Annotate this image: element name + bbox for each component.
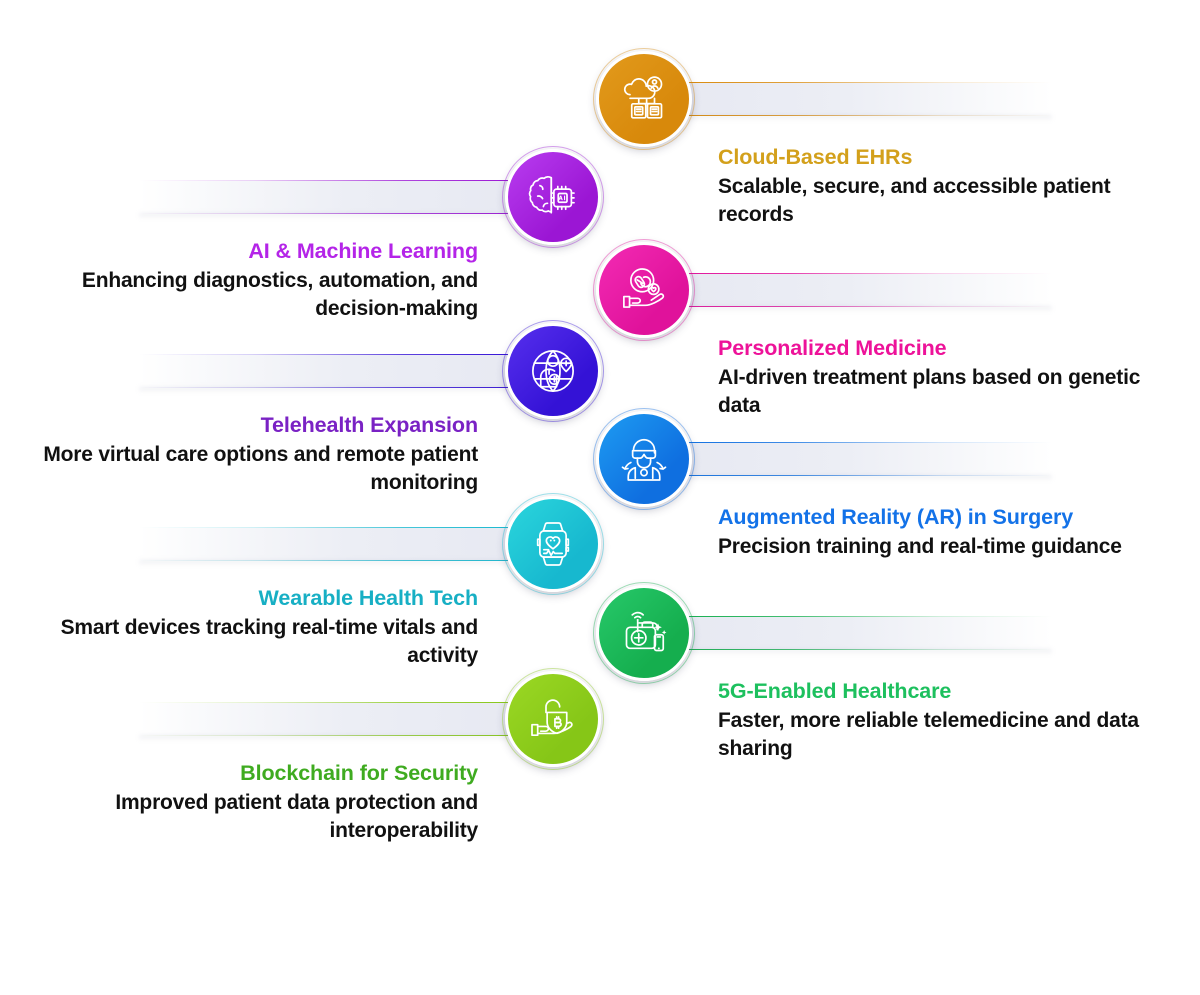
item-title: AI & Machine Learning <box>16 239 478 264</box>
node-personalized-medicine[interactable] <box>596 242 692 338</box>
text-block-telehealth-expansion: Telehealth ExpansionMore virtual care op… <box>16 413 478 496</box>
connector-shadow <box>678 649 1052 655</box>
infographic-canvas: Cloud-Based EHRsScalable, secure, and ac… <box>0 0 1200 995</box>
hand-bitcoin-shield-unlock-icon <box>525 691 581 747</box>
doctor-globe-telehealth-icon <box>525 343 581 399</box>
connector-shadow <box>139 735 519 741</box>
item-title: Telehealth Expansion <box>16 413 478 438</box>
connector-bar-wearable-health-tech <box>139 527 519 561</box>
connector-bar-ai-machine-learning <box>139 180 519 214</box>
text-block-augmented-reality-surgery: Augmented Reality (AR) in SurgeryPrecisi… <box>718 505 1180 561</box>
item-description: AI-driven treatment plans based on genet… <box>718 364 1180 419</box>
connector-bar-fill <box>678 82 1052 116</box>
node-wearable-health-tech[interactable] <box>505 496 601 592</box>
cloud-records-icon <box>616 71 672 127</box>
connector-shadow <box>678 475 1052 481</box>
connector-edge-top <box>139 527 519 528</box>
connector-bar-fill <box>678 442 1052 476</box>
item-description: Precision training and real-time guidanc… <box>718 533 1180 560</box>
connector-bar-fill <box>678 616 1052 650</box>
connector-bar-personalized-medicine <box>678 273 1052 307</box>
smartwatch-heart-pulse-icon <box>525 516 581 572</box>
text-block-cloud-based-ehrs: Cloud-Based EHRsScalable, secure, and ac… <box>718 145 1180 228</box>
connector-shadow <box>678 306 1052 312</box>
text-block-wearable-health-tech: Wearable Health TechSmart devices tracki… <box>16 586 478 669</box>
connector-bar-fill <box>678 273 1052 307</box>
node-augmented-reality-surgery[interactable] <box>596 411 692 507</box>
connector-bar-cloud-based-ehrs <box>678 82 1052 116</box>
text-block-personalized-medicine: Personalized MedicineAI-driven treatment… <box>718 336 1180 419</box>
item-description: More virtual care options and remote pat… <box>16 441 478 496</box>
connector-bar-fill <box>139 180 519 214</box>
item-title: 5G-Enabled Healthcare <box>718 679 1180 704</box>
connector-bar-telehealth-expansion <box>139 354 519 388</box>
connector-shadow <box>678 115 1052 121</box>
brain-chip-ai-icon <box>525 169 581 225</box>
connector-edge-top <box>139 354 519 355</box>
connector-edge-top <box>678 82 1052 83</box>
node-telehealth-expansion[interactable] <box>505 323 601 419</box>
text-block-ai-machine-learning: AI & Machine LearningEnhancing diagnosti… <box>16 239 478 322</box>
text-block-5g-enabled-healthcare: 5G-Enabled HealthcareFaster, more reliab… <box>718 679 1180 762</box>
connector-bar-5g-enabled-healthcare <box>678 616 1052 650</box>
connector-bar-blockchain-for-security <box>139 702 519 736</box>
item-title: Augmented Reality (AR) in Surgery <box>718 505 1180 530</box>
connector-edge-top <box>139 702 519 703</box>
item-description: Scalable, secure, and accessible patient… <box>718 173 1180 228</box>
connector-edge-top <box>678 442 1052 443</box>
connector-bar-fill <box>139 354 519 388</box>
node-5g-enabled-healthcare[interactable] <box>596 585 692 681</box>
connector-shadow <box>139 560 519 566</box>
item-title: Blockchain for Security <box>16 761 478 786</box>
connector-bar-augmented-reality-surgery <box>678 442 1052 476</box>
item-title: Personalized Medicine <box>718 336 1180 361</box>
connector-shadow <box>139 387 519 393</box>
text-block-blockchain-for-security: Blockchain for SecurityImproved patient … <box>16 761 478 844</box>
node-cloud-based-ehrs[interactable] <box>596 51 692 147</box>
connector-edge-top <box>678 273 1052 274</box>
node-blockchain-for-security[interactable] <box>505 671 601 767</box>
item-description: Smart devices tracking real-time vitals … <box>16 614 478 669</box>
item-description: Improved patient data protection and int… <box>16 789 478 844</box>
item-description: Enhancing diagnostics, automation, and d… <box>16 267 478 322</box>
connector-edge-top <box>139 180 519 181</box>
item-title: Cloud-Based EHRs <box>718 145 1180 170</box>
hand-pills-heart-icon <box>616 262 672 318</box>
ar-headset-surgeon-icon <box>616 431 672 487</box>
medical-kit-5g-signal-icon <box>616 605 672 661</box>
connector-bar-fill <box>139 702 519 736</box>
item-description: Faster, more reliable telemedicine and d… <box>718 707 1180 762</box>
connector-shadow <box>139 213 519 219</box>
item-title: Wearable Health Tech <box>16 586 478 611</box>
connector-bar-fill <box>139 527 519 561</box>
connector-edge-top <box>678 616 1052 617</box>
node-ai-machine-learning[interactable] <box>505 149 601 245</box>
